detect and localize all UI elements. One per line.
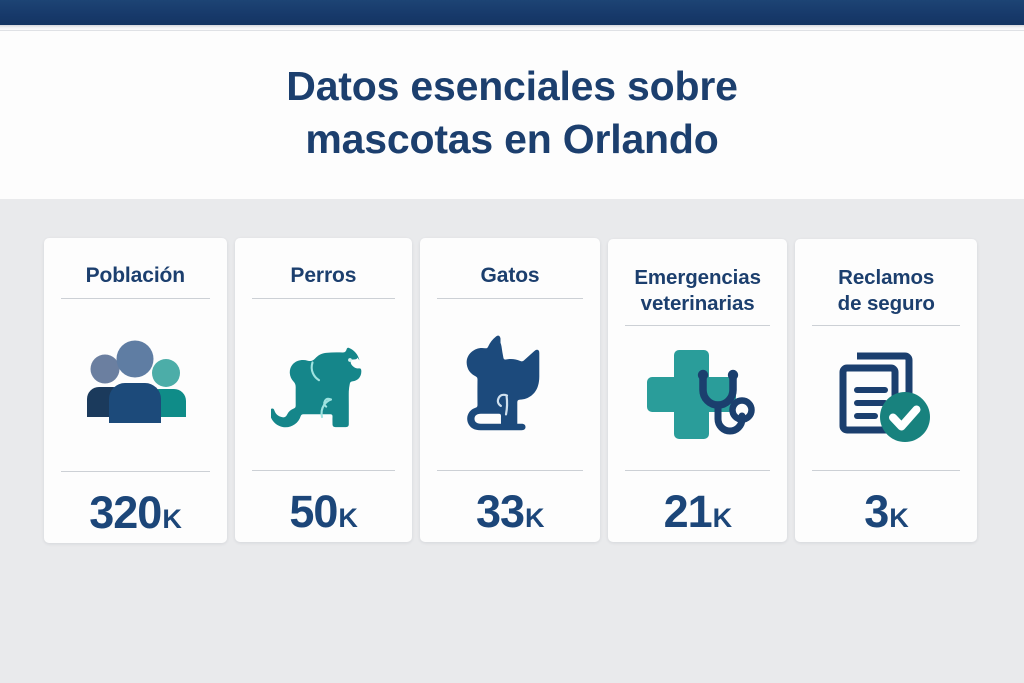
stat-card-value: 50K — [289, 471, 357, 542]
stat-card-value: 3K — [864, 471, 908, 542]
stat-value-unit: K — [525, 495, 544, 542]
stat-card-title: Emergencias veterinarias — [634, 239, 761, 317]
stat-value-number: 320 — [89, 489, 161, 536]
card-icon-area — [252, 299, 396, 470]
card-icon-area — [437, 299, 583, 470]
page-title-line-1: Datos esenciales sobre — [0, 60, 1024, 113]
medical-cross-stethoscope-icon — [639, 346, 757, 450]
stat-card-title: Población — [86, 238, 185, 289]
stat-card-strip: Población 320K Perros — [44, 238, 977, 544]
stat-value-number: 33 — [476, 488, 524, 535]
stat-card-title-line-1: Emergencias — [634, 266, 761, 289]
stat-card-title-line-2: veterinarias — [641, 292, 755, 315]
cat-icon — [462, 330, 558, 440]
stat-value-number: 21 — [664, 488, 712, 535]
stat-card-title-line-1: Reclamos — [838, 266, 934, 289]
stat-value-unit: K — [889, 495, 908, 542]
stat-card-title: Reclamos de seguro — [838, 239, 935, 317]
window-topbar — [0, 0, 1024, 25]
stat-card-value: 21K — [664, 471, 732, 542]
stat-card-title-line-2: de seguro — [838, 292, 935, 315]
card-icon-area — [625, 326, 771, 470]
stat-card-title: Perros — [290, 238, 356, 289]
people-group-icon — [79, 333, 191, 437]
stat-card-title: Gatos — [481, 238, 540, 289]
card-icon-area — [61, 299, 210, 471]
stat-card-emergencias-veterinarias[interactable]: Emergencias veterinarias 21K — [608, 239, 788, 542]
stat-value-number: 50 — [289, 488, 337, 535]
card-icon-area — [812, 326, 960, 470]
stat-card-value: 33K — [476, 471, 544, 542]
stat-value-unit: K — [713, 495, 732, 542]
page-title-line-2: mascotas en Orlando — [0, 113, 1024, 166]
stat-card-perros[interactable]: Perros 50K — [235, 238, 413, 542]
stat-card-reclamos-de-seguro[interactable]: Reclamos de seguro 3K — [795, 239, 977, 542]
document-check-icon — [833, 346, 939, 450]
stat-card-poblacion[interactable]: Población 320K — [44, 238, 227, 543]
stat-value-unit: K — [162, 496, 181, 543]
stat-card-gatos[interactable]: Gatos 33K — [420, 238, 600, 542]
stat-value-unit: K — [338, 495, 357, 542]
page-title: Datos esenciales sobre mascotas en Orlan… — [0, 60, 1024, 166]
dog-icon — [271, 334, 375, 436]
stat-card-value: 320K — [89, 472, 181, 543]
stat-value-number: 3 — [864, 488, 888, 535]
